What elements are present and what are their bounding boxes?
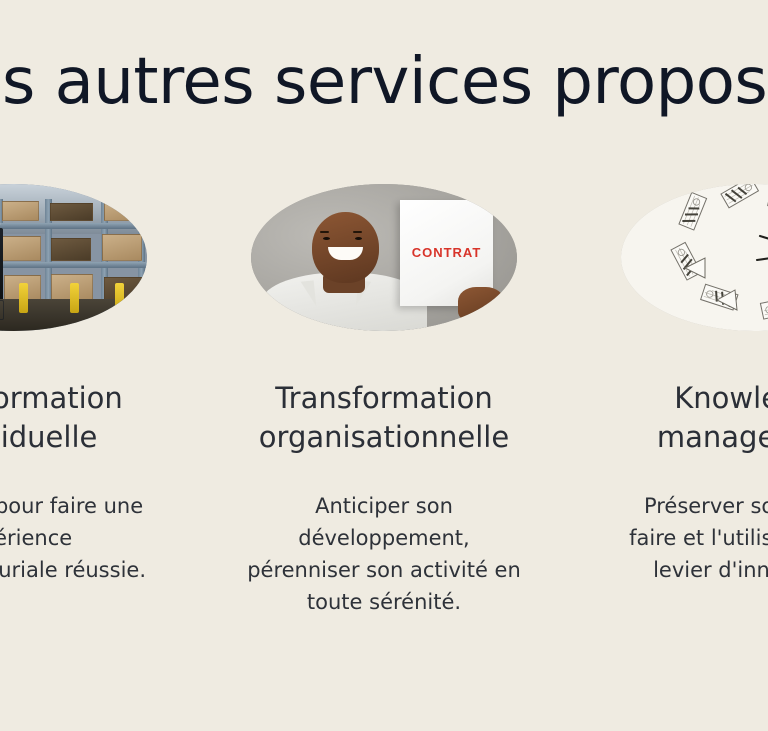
woman-hand	[458, 287, 503, 322]
woman-eyebrow	[320, 231, 329, 233]
lightbulb-sketch-illustration	[621, 184, 768, 331]
service-card-transformation-individuelle: Transformation individuelle Se former po…	[0, 184, 199, 587]
shelf-beam	[0, 262, 147, 268]
storage-box	[51, 238, 91, 260]
card-title: Knowledge management	[604, 379, 768, 457]
worker-figure	[0, 190, 19, 331]
idea-sketch-svg	[621, 184, 768, 331]
woman-eyebrow	[353, 231, 362, 233]
idea-sketch-scene	[621, 184, 768, 331]
storage-box	[50, 203, 93, 222]
warehouse-scene	[0, 184, 147, 331]
service-card-transformation-organisationnelle: CONTRAT Transformation organisationnelle…	[199, 184, 569, 619]
card-title: Transformation organisationnelle	[234, 379, 534, 457]
contract-woman-photo: CONTRAT	[251, 184, 517, 331]
woman-eye	[323, 237, 330, 240]
card-body: Anticiper son développement, pérenniser …	[247, 491, 521, 619]
contract-scene: CONTRAT	[251, 184, 517, 331]
page-title: Les autres services proposés	[0, 49, 768, 116]
card-body: Préserver son savoir- faire et l'utilise…	[629, 491, 768, 587]
safety-bollard	[70, 283, 79, 313]
storage-box	[104, 200, 143, 221]
uniform-pocket	[0, 300, 4, 320]
card-body: Se former pour faire une expérience entr…	[0, 491, 146, 587]
storage-box	[102, 234, 142, 260]
card-title: Transformation individuelle	[0, 379, 164, 457]
shelf-beam	[0, 223, 147, 229]
safety-bollard	[115, 283, 124, 313]
shirt-collar	[300, 281, 316, 308]
warehouse-worker-photo	[0, 184, 147, 331]
contract-document-label: CONTRAT	[400, 245, 493, 260]
service-card-knowledge-management: Knowledge management Préserver son savoi…	[569, 184, 768, 587]
services-card-row: Transformation individuelle Se former po…	[0, 184, 768, 619]
woman-eye	[355, 237, 362, 240]
